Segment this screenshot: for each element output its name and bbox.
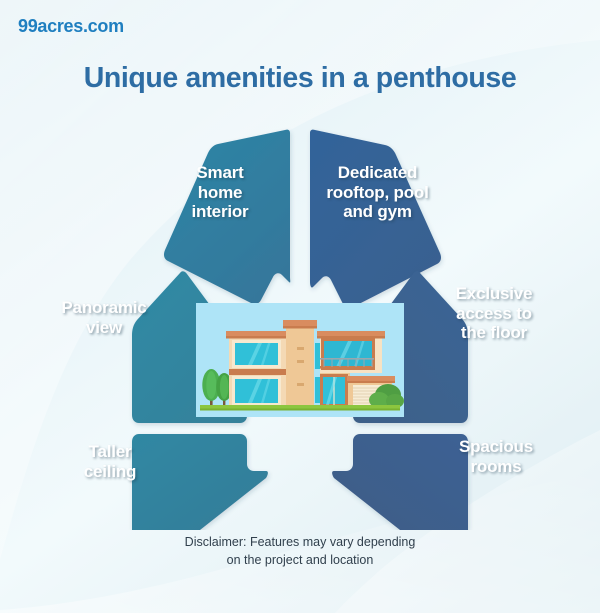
disclaimer-line-1: Disclaimer: Features may vary depending <box>0 533 600 551</box>
disclaimer-text: Disclaimer: Features may vary depending … <box>0 533 600 569</box>
disclaimer-line-2: on the project and location <box>0 551 600 569</box>
brand-logo: 99acres.com <box>18 16 124 37</box>
segment-taller-ceiling[interactable] <box>132 434 268 530</box>
house-mid-band <box>229 369 286 375</box>
house-tower-cap <box>283 320 317 326</box>
page-title: Unique amenities in a penthouse <box>0 62 600 95</box>
house-center-tower <box>286 325 314 405</box>
infographic-canvas: 99acres.com Unique amenities in a pentho… <box>0 0 600 613</box>
house-left-roof <box>226 331 289 336</box>
house-right-roof <box>317 331 385 336</box>
balcony-rail <box>320 358 374 360</box>
window-tower-slim-lower <box>315 377 320 403</box>
house-illustration <box>196 303 404 417</box>
segment-spacious-rooms[interactable] <box>332 434 468 530</box>
window-tower-slim-upper <box>315 343 320 369</box>
garage-roof <box>347 376 395 381</box>
